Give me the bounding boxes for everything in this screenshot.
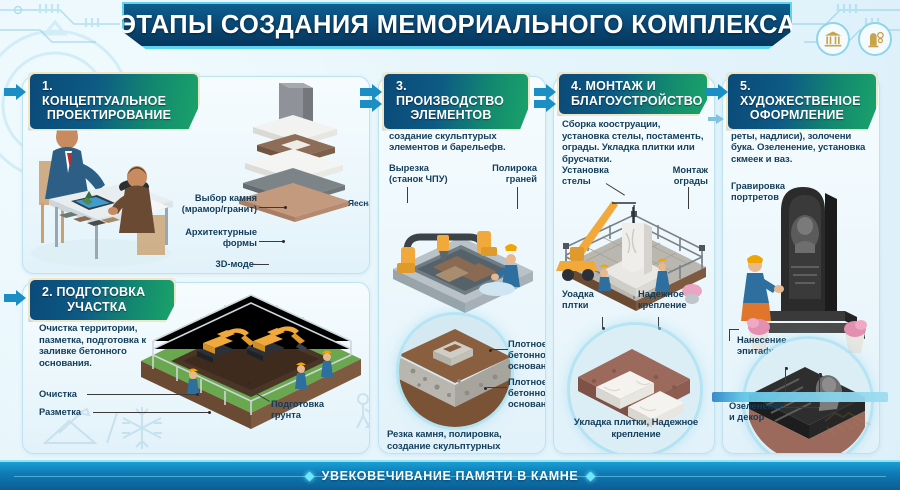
callout-edge-polishing: Полирокаграней (475, 163, 537, 185)
callout-secure-fastening: Надежное крепление (638, 289, 708, 311)
leader-line-4d (658, 317, 659, 329)
leader-dot-1a (284, 206, 287, 209)
callout-architectural-forms: Архитектурныеформы (173, 227, 257, 249)
leader-line-2b (93, 412, 209, 413)
leader-line-3c (492, 349, 508, 350)
stage-header-3[interactable]: 3. ПРОИЗВОДСТВО ЭЛЕМЕНТОВ (382, 72, 530, 131)
stage-header-1-line2: ПРОЕКТИРОВАНИЕ (42, 108, 176, 123)
page-title: ЭТАПЫ СОЗДАНИЯ МЕМОРИАЛЬНОГО КОМПЛЕКСА (118, 11, 796, 40)
stage-header-4-line1: 4. МОНТАЖ И (571, 79, 685, 94)
leader-dot-2b (208, 411, 211, 414)
callout-cleaning: Очистка (39, 389, 77, 400)
stage-4-description: Сборка кооструации, установка стелы, пос… (562, 119, 710, 165)
flow-arrow-4-to-5-small (708, 114, 724, 124)
stage-header-5-line1: 5. ХУДОЖЕСТВЕНІОЕ (740, 79, 854, 108)
callout-landscaping-decor: Озеленение и декор (729, 401, 787, 423)
callout-fence-mounting: Монтаж ограды (646, 165, 708, 187)
stage-2-description: Очистка территории, пазметка, подготовка… (39, 323, 157, 369)
gravestone-wreath-icon (858, 22, 892, 56)
callout-3d-modeling: 3D-моде-лирование (173, 259, 257, 274)
cnc-machine-illustration (383, 195, 545, 315)
flow-arrow-3-to-4-b (534, 96, 556, 112)
leader-dot-2a (196, 393, 199, 396)
callout-stele-installation: Установка стелы (562, 165, 622, 187)
stage-header-2-line2: УЧАСТКА (42, 300, 152, 315)
stage-header-4[interactable]: 4. МОНТАЖ И БЛАГОУСТРОЙСТВО (557, 72, 709, 116)
title-plate: ЭТАПЫ СОЗДАНИЯ МЕМОРИАЛЬНОГО КОМПЛЕКСА (122, 2, 792, 49)
leader-line-1c (251, 264, 269, 265)
leader-line-2a (87, 394, 197, 395)
callout-vesna: Яесна (348, 198, 370, 209)
footer-diamond-right (586, 471, 596, 481)
stage-panel-4: Сборка кооструации, установка стелы, пос… (553, 76, 715, 454)
poster-header: ЭТАПЫ СОЗДАНИЯ МЕМОРИАЛЬНОГО КОМПЛЕКСА (0, 0, 900, 62)
progress-bar-overlay[interactable] (712, 392, 888, 402)
leader-line-5e (785, 407, 819, 408)
flow-arrow-4-to-5 (706, 84, 728, 100)
stage-header-1-line1: 1. КОНЦЕПТУАЛЬНОЕ (42, 79, 176, 108)
stage-header-4-line2: БЛАГОУСТРОЙСТВО (571, 94, 685, 109)
leader-line-1a (259, 207, 285, 208)
stage-3-caption: Резка камня, полировка, создание скульпт… (387, 429, 537, 452)
poster-footer: УВЕКОВЕЧИВАНИЕ ПАМЯТИ В КАМНЕ (0, 460, 900, 490)
leader-line-1b (259, 241, 283, 242)
flow-arrow-into-1 (4, 84, 26, 100)
stage-header-5-line2: ОФОРМЛЕНИЕ (740, 108, 854, 123)
stage-header-5[interactable]: 5. ХУДОЖЕСТВЕНІОЕ ОФОРМЛЕНИЕ (726, 72, 878, 131)
leader-dot-2c (247, 382, 250, 385)
callout-dense-concrete-base-2: Плотное бетонное основание (508, 377, 546, 410)
concrete-base-circle-inset (399, 315, 511, 427)
callout-marking: Разметка (39, 407, 81, 418)
stage-header-2-line1: 2. ПОДГОТОВКА (42, 285, 152, 300)
handshake-icon (823, 403, 875, 441)
leader-line-4c (602, 317, 603, 329)
callout-dense-concrete-base-1: Плотное бетонное основание (508, 339, 546, 372)
divider-slash-decoration (103, 411, 121, 445)
callout-stone-choice: Выбор камня(мрамор/гранит) (173, 193, 257, 215)
flow-arrow-2-to-3 (360, 96, 382, 112)
callout-cnc-cutting: Вырезка(станок ЧПУ) (389, 163, 451, 185)
flow-arrow-into-2 (4, 290, 26, 306)
leader-line-5b2 (729, 329, 739, 330)
callout-soil-preparation: Подготовка грунта (271, 399, 351, 421)
header-icon-group (816, 22, 892, 56)
leader-line-3d (487, 387, 507, 388)
stage-header-1[interactable]: 1. КОНЦЕПТУАЛЬНОЕ ПРОЕКТИРОВАНИЕ (28, 72, 200, 131)
leader-dot-1b (282, 240, 285, 243)
footer-rule (14, 476, 886, 477)
stage-header-2[interactable]: 2. ПОДГОТОВКА УЧАСТКА (28, 278, 176, 322)
stage-header-3-line1: 3. ПРОИЗВОДСТВО (396, 79, 506, 108)
callout-tile-laying: Уоадка плтки (562, 289, 614, 311)
footer-diamond-left (304, 471, 314, 481)
stage-header-3-line2: ЭЛЕМЕНТОВ (396, 108, 506, 123)
stage-4-caption: Укладка плитки, Надежное крепление (562, 417, 710, 440)
infographic-poster: ЭТАПЫ СОЗДАНИЯ МЕМОРИАЛЬНОГО КОМПЛЕКСА (0, 0, 900, 490)
stage-panel-3: Резка камня, плпррвка, создание скульпту… (378, 76, 546, 454)
temple-monument-icon (816, 22, 850, 56)
leader-line-5b (729, 329, 730, 341)
